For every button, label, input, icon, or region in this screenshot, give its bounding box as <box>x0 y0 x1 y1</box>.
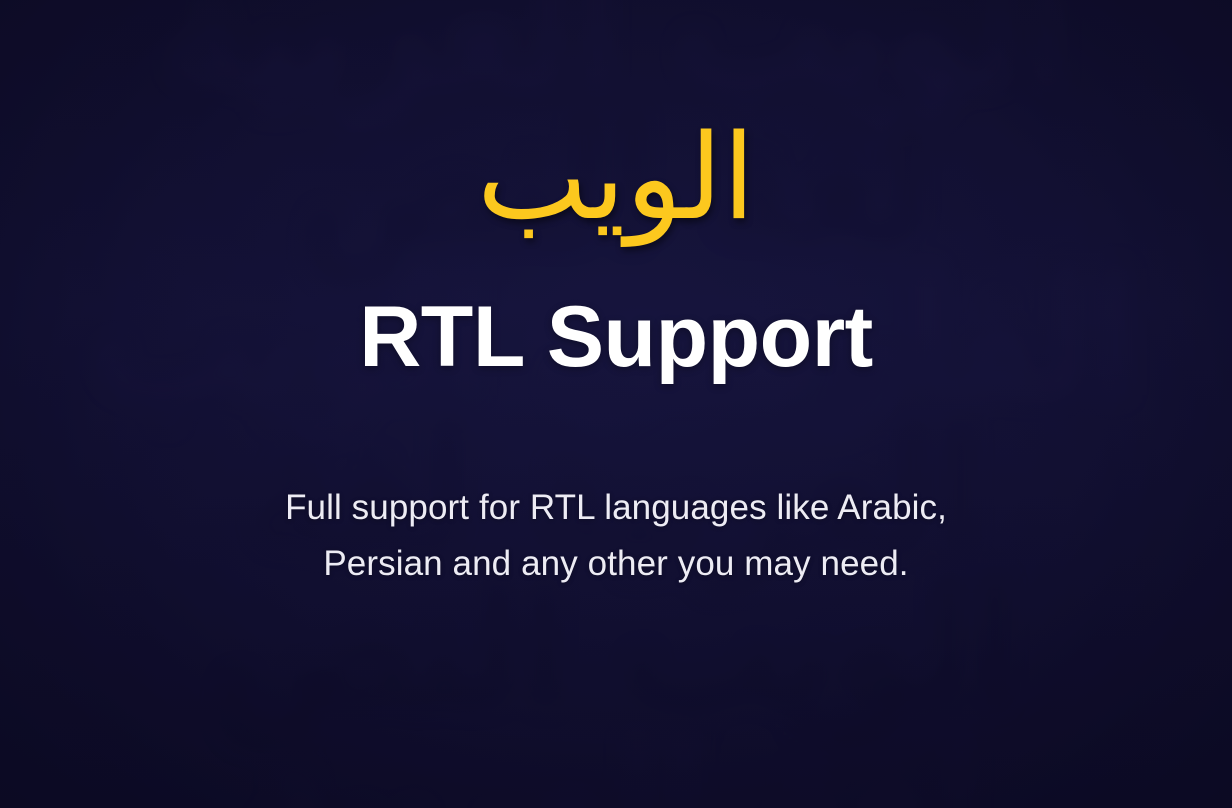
hero-subtitle: Full support for RTL languages like Arab… <box>285 480 947 593</box>
page-title: RTL Support <box>359 294 873 380</box>
rtl-support-hero-banner: الويب العربية لغة النص الفارسي الويب الع… <box>0 0 1232 808</box>
hero-subtitle-line-1: Full support for RTL languages like Arab… <box>285 488 947 527</box>
hero-content: الويب RTL Support Full support for RTL l… <box>0 0 1232 628</box>
background-glyph-row: لغة العربية <box>233 724 999 808</box>
hero-subtitle-line-2: Persian and any other you may need. <box>323 544 908 583</box>
arabic-wordmark-logo: الويب <box>477 118 755 236</box>
